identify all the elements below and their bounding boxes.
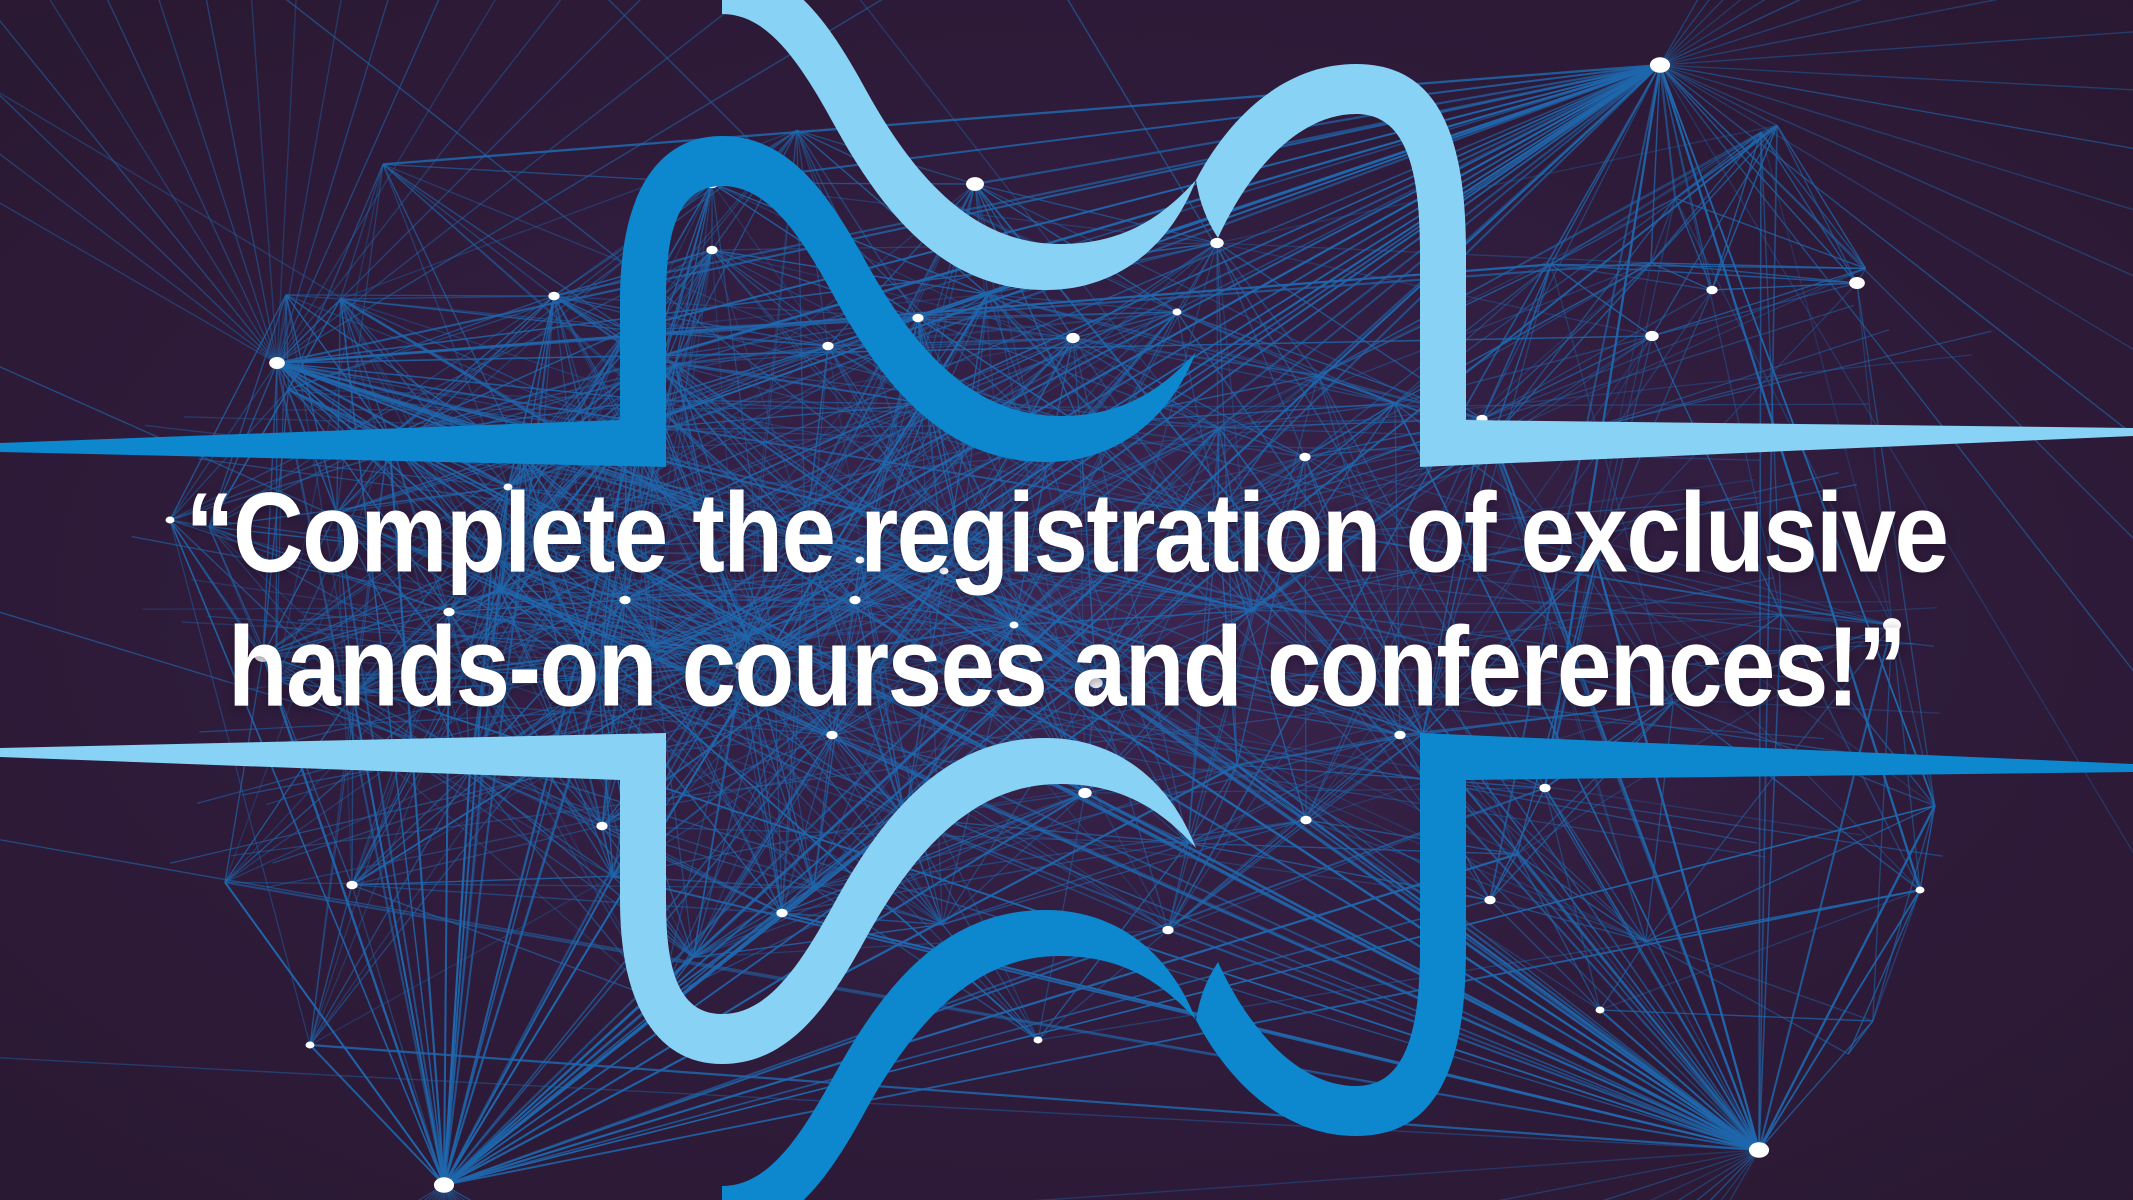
wave-bottom-dark-right (1196, 733, 2133, 1136)
wave-top-light (722, 0, 1196, 290)
wave-top-dark (0, 136, 1196, 467)
promo-banner: “Complete the registration of exclusive … (0, 0, 2133, 1200)
wave-bottom-light (0, 733, 1196, 1064)
wave-bottom-dark (722, 910, 1196, 1200)
wave-top-light-right (1196, 64, 2133, 467)
wave-ribbon-graphic (0, 0, 2133, 1200)
